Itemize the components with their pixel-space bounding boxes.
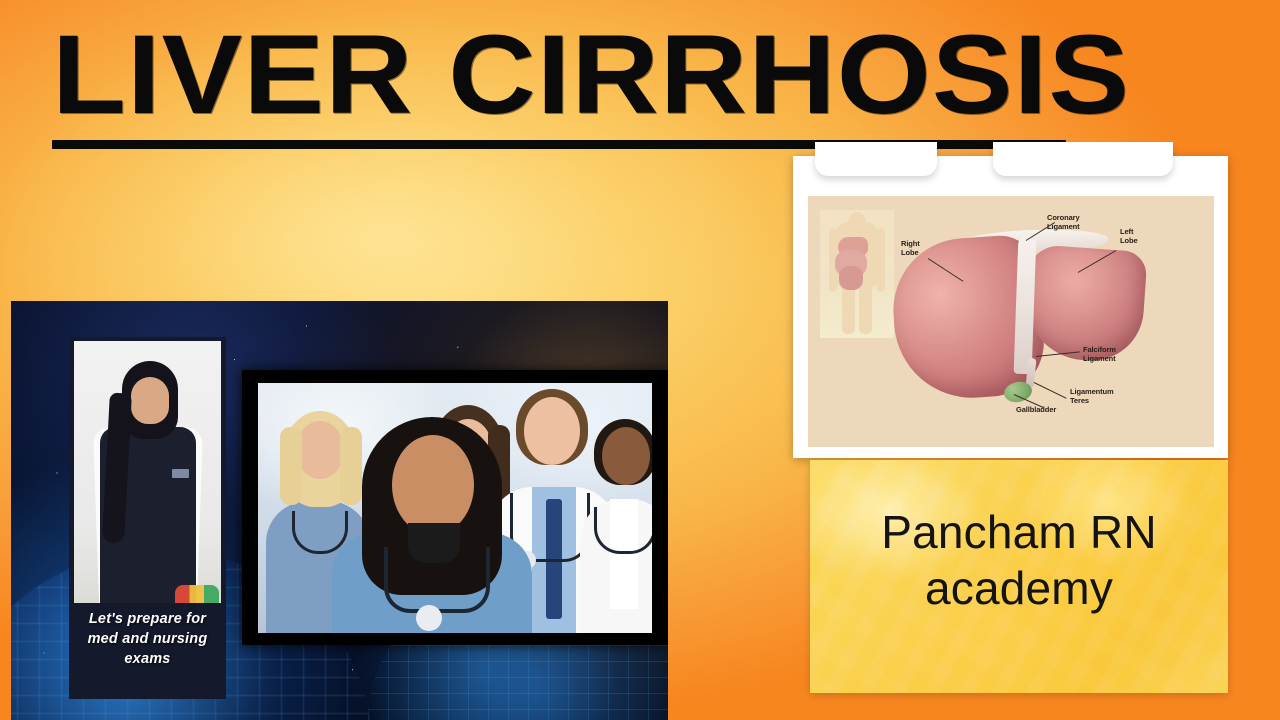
leader-teres — [1034, 382, 1067, 399]
academy-branding-card: Pancham RN academy — [810, 460, 1228, 693]
label-ligamentum-teres: Ligamentum Teres — [1070, 388, 1114, 406]
team-photo-frame — [242, 370, 668, 645]
liver-diagram-card: Right Lobe Coronary Ligament Left Lobe F… — [793, 156, 1228, 458]
photo-collage-panel: Let's prepare for med and nursing exams — [11, 301, 668, 720]
label-right-lobe: Right Lobe — [901, 240, 920, 258]
instructor-portrait-card: Let's prepare for med and nursing exams — [69, 337, 226, 699]
color-accent — [175, 585, 219, 603]
label-gallbladder: Gallbladder — [1016, 406, 1056, 415]
team-photo — [258, 383, 652, 633]
academy-name-line1: Pancham RN — [810, 504, 1228, 560]
liver-anatomy-image: Right Lobe Coronary Ligament Left Lobe F… — [808, 196, 1214, 447]
portrait-caption: Let's prepare for med and nursing exams — [69, 609, 226, 669]
slide-canvas: LIVER CIRRHOSIS Let's prepare for med an… — [0, 0, 1280, 720]
page-title: LIVER CIRRHOSIS — [52, 18, 1154, 132]
academy-name-line2: academy — [810, 560, 1228, 616]
body-inset-illustration — [820, 210, 894, 338]
card-tab-left — [815, 142, 937, 176]
card-tab-right — [993, 142, 1173, 176]
face — [131, 377, 169, 424]
label-coronary-ligament: Coronary Ligament — [1047, 214, 1080, 232]
academy-name: Pancham RN academy — [810, 504, 1228, 616]
label-left-lobe: Left Lobe — [1120, 228, 1138, 246]
label-falciform-ligament: Falciform Ligament — [1083, 346, 1116, 364]
instructor-photo — [74, 341, 221, 603]
title-block: LIVER CIRRHOSIS — [52, 18, 1072, 132]
id-badge — [172, 469, 189, 478]
